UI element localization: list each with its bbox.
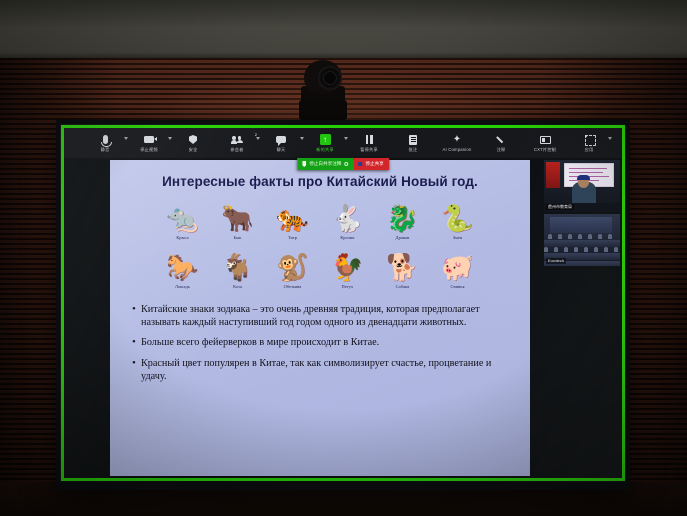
apps-icon	[585, 134, 594, 146]
chevron-down-icon[interactable]	[608, 137, 612, 140]
bullet-marker: •	[132, 336, 141, 349]
shared-slide: Интересные факты про Китайский Новый год…	[110, 160, 530, 476]
zodiac-item: 🐖 Свинья	[430, 252, 485, 289]
participant-name-label: 儋州市教育局	[546, 204, 574, 210]
toolbar-button-security[interactable]: 安全	[178, 134, 208, 153]
toolbar-button-ai-companion[interactable]: ✦ AI Companion	[442, 134, 472, 153]
zodiac-monkey-icon: 🐒	[276, 252, 310, 282]
zodiac-label: Бык	[234, 235, 242, 240]
zodiac-label: Коза	[233, 284, 242, 289]
zodiac-item: 🐍 Змея	[430, 203, 485, 240]
stop-annotation-button[interactable]: 停止白共享注释	[297, 158, 353, 170]
toolbar-label: 安全	[189, 147, 198, 153]
toolbar-button-notes[interactable]: 注释	[486, 134, 516, 153]
toolbar-button-annotate[interactable]: 批注	[398, 134, 428, 153]
annotate-doc-icon	[409, 134, 417, 146]
bullet-text: Китайские знаки зодиака – это очень древ…	[141, 303, 514, 329]
zodiac-dragon-icon: 🐉	[386, 203, 420, 233]
chevron-down-icon[interactable]	[168, 137, 172, 140]
bullet-item: • Больше всего фейерверков в мире происх…	[132, 336, 514, 349]
presenter-cap	[577, 175, 590, 180]
participant-name-label: Eurotech	[546, 258, 566, 264]
zodiac-ox-icon: 🐂	[221, 203, 255, 233]
bullet-marker: •	[132, 303, 141, 329]
zoom-toolbar: 静音 停止视频 安全 参会者 2	[64, 128, 622, 158]
toolbar-label: 聊天	[277, 147, 286, 153]
shield-icon	[189, 134, 197, 146]
toolbar-label: 参会者	[230, 147, 243, 153]
tv-screen: 静音 停止视频 安全 参会者 2	[60, 124, 626, 482]
toolbar-button-stop-video[interactable]: 停止视频	[134, 134, 164, 153]
toolbar-label: 批注	[409, 147, 418, 153]
annotation-marker-icon	[302, 161, 306, 167]
microphone-icon	[103, 134, 108, 146]
toolbar-label: 静音	[101, 147, 110, 153]
toolbar-label: CXT片控制	[534, 147, 556, 153]
toolbar-label: 注释	[497, 147, 506, 153]
participants-icon	[231, 134, 244, 146]
slide-bullets: • Китайские знаки зодиака – это очень др…	[132, 303, 514, 383]
toolbar-button-more[interactable]: •••	[618, 137, 626, 149]
camera-base	[299, 100, 347, 120]
pause-icon	[366, 134, 373, 146]
zodiac-item: 🐎 Лошадь	[155, 252, 210, 289]
television: 静音 停止视频 安全 参会者 2	[56, 120, 630, 490]
zodiac-grid: 🐀 Крыса 🐂 Бык 🐅 Тигр 🐇 Кролик	[155, 203, 485, 289]
toolbar-label: 新的共享	[316, 147, 334, 153]
zodiac-tiger-icon: 🐅	[276, 203, 310, 233]
zodiac-dog-icon: 🐕	[386, 252, 420, 282]
more-options-icon[interactable]	[344, 162, 348, 166]
toolbar-button-mute[interactable]: 静音	[90, 134, 120, 153]
ptz-camera-icon	[297, 60, 349, 120]
pen-icon	[496, 134, 506, 146]
video-tile-classroom[interactable]: Eurotech	[544, 214, 620, 266]
slide-title: Интересные факты про Китайский Новый год…	[110, 174, 530, 189]
participant-video-strip: 儋州市教育局	[544, 160, 620, 268]
stop-square-icon	[358, 162, 362, 166]
toolbar-label: 应用	[585, 147, 594, 153]
zodiac-rooster-icon: 🐓	[331, 252, 365, 282]
zodiac-pig-icon: 🐖	[441, 252, 475, 282]
zodiac-label: Дракон	[396, 235, 410, 240]
share-screen-icon: ↑	[320, 134, 331, 146]
toolbar-label: AI Companion	[443, 147, 472, 153]
zodiac-label: Свинья	[450, 284, 464, 289]
zodiac-label: Лошадь	[175, 284, 190, 289]
zodiac-rabbit-icon: 🐇	[331, 203, 365, 233]
desk-row	[544, 240, 620, 247]
zodiac-label: Крыса	[176, 235, 188, 240]
chevron-down-icon[interactable]	[256, 137, 260, 140]
toolbar-label: 停止视频	[140, 147, 158, 153]
camera-lens	[318, 66, 342, 90]
zodiac-item: 🐂 Бык	[210, 203, 265, 240]
zodiac-horse-icon: 🐎	[166, 252, 200, 282]
stop-annotation-label: 停止白共享注释	[309, 161, 341, 167]
toolbar-button-new-share[interactable]: ↑ 新的共享	[310, 134, 340, 153]
video-tile-presenter[interactable]: 儋州市教育局	[544, 160, 620, 212]
zodiac-item: 🐕 Собака	[375, 252, 430, 289]
bullet-item: • Красный цвет популярен в Китае, так ка…	[132, 357, 514, 383]
toolbar-button-pause-share[interactable]: 暂停共享	[354, 134, 384, 153]
chevron-down-icon[interactable]	[124, 137, 128, 140]
photo-scene: 静音 停止视频 安全 参会者 2	[0, 0, 687, 516]
zodiac-item: 🐉 Дракон	[375, 203, 430, 240]
zodiac-label: Собака	[396, 284, 410, 289]
remote-control-icon	[540, 134, 551, 146]
zodiac-label: Обезьяна	[284, 284, 302, 289]
camera-head	[304, 60, 342, 94]
camera-icon	[144, 134, 154, 146]
bullet-text: Больше всего фейерверков в мире происход…	[141, 336, 379, 349]
zodiac-item: 🐓 Петух	[320, 252, 375, 289]
zodiac-snake-icon: 🐍	[441, 203, 475, 233]
zodiac-item: 🐐 Коза	[210, 252, 265, 289]
zodiac-rat-icon: 🐀	[166, 203, 200, 233]
chat-icon	[276, 134, 286, 146]
toolbar-button-participants[interactable]: 参会者 2	[222, 134, 252, 153]
share-control-bar: 停止白共享注释 停止共享	[297, 158, 389, 170]
zodiac-goat-icon: 🐐	[221, 252, 255, 282]
zodiac-label: Тигр	[288, 235, 297, 240]
zodiac-label: Змея	[453, 235, 462, 240]
sparkle-icon: ✦	[453, 134, 461, 146]
toolbar-button-remote-control[interactable]: CXT片控制	[530, 134, 560, 153]
chevron-down-icon[interactable]	[344, 137, 348, 140]
zodiac-item: 🐇 Кролик	[320, 203, 375, 240]
toolbar-button-apps[interactable]: 应用	[574, 134, 604, 153]
bullet-item: • Китайские знаки зодиака – это очень др…	[132, 303, 514, 329]
bullet-marker: •	[132, 357, 141, 383]
zodiac-label: Петух	[342, 284, 354, 289]
stop-share-button[interactable]: 停止共享	[353, 158, 388, 170]
stop-share-label: 停止共享	[365, 161, 383, 167]
zodiac-item: 🐒 Обезьяна	[265, 252, 320, 289]
zodiac-item: 🐀 Крыса	[155, 203, 210, 240]
zodiac-label: Кролик	[340, 235, 354, 240]
bullet-text: Красный цвет популярен в Китае, так как …	[141, 357, 514, 383]
toolbar-button-chat[interactable]: 聊天	[266, 134, 296, 153]
chevron-down-icon[interactable]	[300, 137, 304, 140]
ceiling	[0, 0, 687, 62]
room-projection-screen	[550, 217, 612, 233]
flag-decor	[546, 162, 560, 188]
toolbar-label: 暂停共享	[360, 147, 378, 153]
zodiac-item: 🐅 Тигр	[265, 203, 320, 240]
